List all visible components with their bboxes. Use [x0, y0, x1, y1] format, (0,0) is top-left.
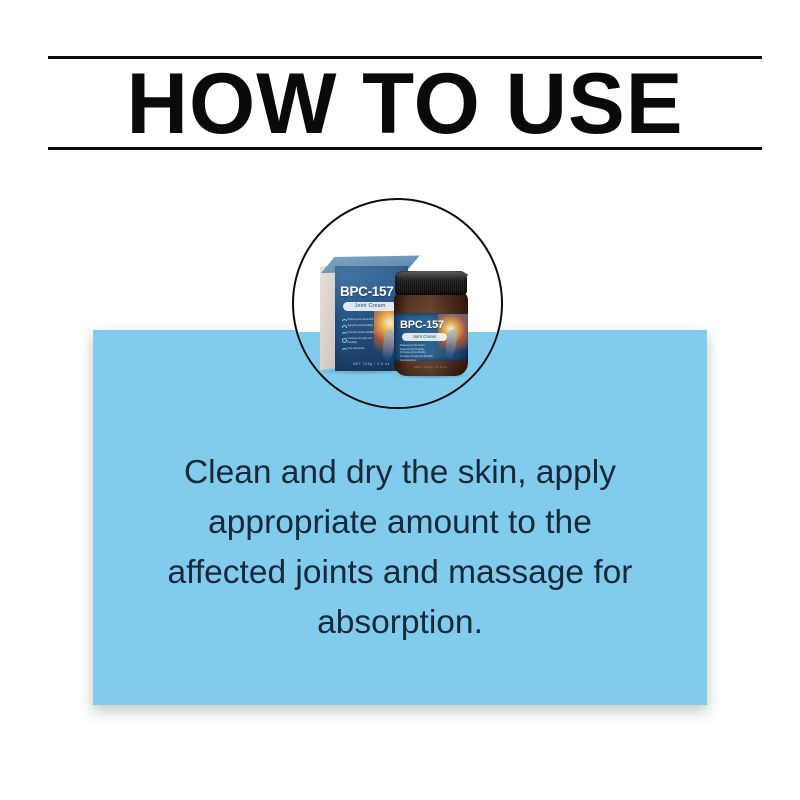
list-item: Promotes Active Mobility	[400, 351, 436, 354]
list-item: Supports joint flexibility	[400, 348, 436, 351]
list-item: Fast absorption	[342, 347, 376, 350]
header: HOW TO USE	[48, 56, 762, 152]
box-product-name-badge: Joint Cream	[343, 302, 397, 311]
product-image-medallion: BPC-157 Joint Cream Relieve joint discom…	[292, 198, 503, 409]
list-item: Fast absorption	[400, 359, 436, 362]
product-scene: BPC-157 Joint Cream Relieve joint discom…	[294, 200, 501, 407]
list-item: Promotes Active Mobility	[342, 331, 376, 334]
box-feature-list: Relieve joint discomfort Supports joint …	[342, 318, 376, 354]
how-to-use-infographic: HOW TO USE Clean and dry the skin, apply…	[0, 0, 800, 800]
list-item: Relieve joint discomfort	[400, 344, 436, 347]
page-title: HOW TO USE	[52, 62, 759, 146]
product-photo: BPC-157 Joint Cream Relieve joint discom…	[294, 200, 501, 407]
list-item: Increase strength and flexibility	[400, 355, 436, 358]
jar-lid	[395, 271, 467, 295]
product-jar: BPC-157 Joint Cream Relieve joint discom…	[394, 271, 468, 377]
list-item: Increase strength and flexibility	[342, 337, 376, 343]
jar-brand-label: BPC-157	[400, 319, 444, 331]
divider-bottom	[48, 147, 762, 150]
instruction-text: Clean and dry the skin, apply appropriat…	[153, 448, 647, 648]
list-item: Relieve joint discomfort	[342, 318, 376, 321]
jar-net-weight-label: NET 100g / 3.5 oz	[394, 365, 468, 369]
jar-body: BPC-157 Joint Cream Relieve joint discom…	[394, 291, 468, 376]
list-item: Supports joint flexibility	[342, 324, 376, 327]
jar-label: BPC-157 Joint Cream Relieve joint discom…	[394, 313, 468, 361]
jar-feature-list: Relieve joint discomfort Supports joint …	[400, 344, 436, 362]
jar-lid-top	[396, 271, 468, 279]
jar-product-name-badge: Joint Cream	[402, 333, 447, 341]
